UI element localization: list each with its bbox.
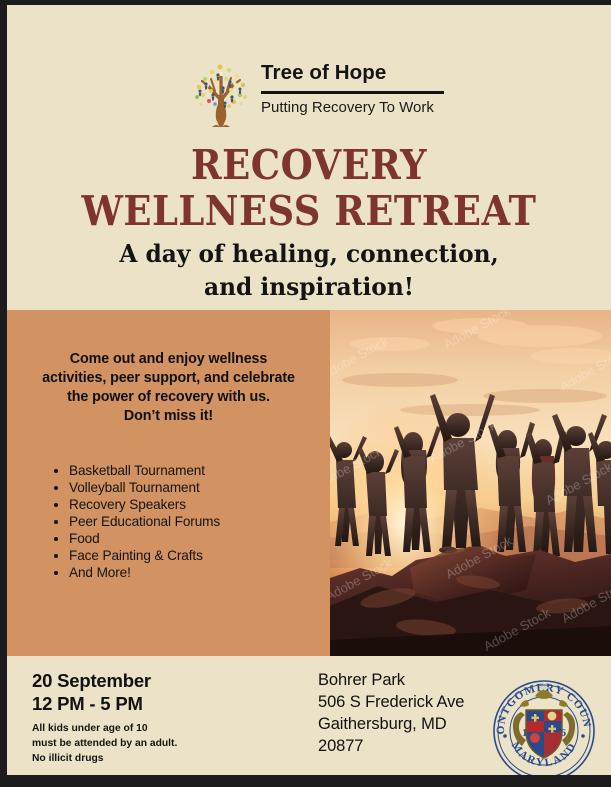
brand-header: Tree of Hope Putting Recovery To Work [185, 55, 455, 133]
tree-of-hope-logo-icon [185, 57, 257, 131]
promo-line-4: Don’t miss it! [19, 407, 318, 426]
list-item: And More! [69, 564, 220, 581]
event-time: 12 PM - 5 PM [32, 693, 151, 716]
frame-bottom-bar [0, 775, 611, 787]
flyer-frame: Tree of Hope Putting Recovery To Work RE… [0, 0, 611, 787]
list-item: Volleyball Tournament [69, 479, 220, 496]
list-item: Peer Educational Forums [69, 513, 220, 530]
flyer-page: Tree of Hope Putting Recovery To Work RE… [7, 5, 611, 775]
event-subtitle-line-1: A day of healing, connection, [22, 237, 596, 270]
disclaimer-line-1: All kids under age of 10 [32, 722, 177, 737]
event-title: RECOVERY WELLNESS RETREAT [7, 145, 611, 232]
venue-zip: 20877 [318, 736, 464, 758]
promo-paragraph: Come out and enjoy wellness activities, … [19, 350, 318, 426]
disclaimer-block: All kids under age of 10 must be attende… [32, 722, 177, 766]
venue-name: Bohrer Park [318, 670, 464, 692]
event-subtitle: A day of healing, connection, and inspir… [7, 237, 611, 303]
event-title-line-1: RECOVERY [37, 145, 581, 186]
venue-street: 506 S Frederick Ave [318, 692, 464, 714]
venue-city-state: Gaithersburg, MD [318, 714, 464, 736]
list-item: Face Painting & Crafts [69, 547, 220, 564]
promo-panel: Come out and enjoy wellness activities, … [7, 310, 330, 656]
date-time-block: 20 September 12 PM - 5 PM [32, 670, 151, 716]
promo-line-1: Come out and enjoy wellness [19, 350, 318, 369]
organization-name: Tree of Hope [261, 61, 386, 85]
activities-list: Basketball Tournament Volleyball Tournam… [51, 462, 220, 581]
list-item: Food [69, 530, 220, 547]
venue-address-block: Bohrer Park 506 S Frederick Ave Gaithers… [318, 670, 464, 758]
organization-tagline: Putting Recovery To Work [261, 99, 434, 116]
montgomery-county-maryland-seal-icon: MONTGOMERY COUNTY MARYLAND 17 76 [491, 678, 597, 775]
event-date: 20 September [32, 670, 151, 693]
event-subtitle-line-2: and inspiration! [22, 270, 596, 303]
promo-line-3: the power of recovery with us. [19, 388, 318, 407]
sunset-group-photo: Adobe Stock Adobe Stock Adobe Stock Adob… [330, 310, 611, 656]
disclaimer-line-3: No illicit drugs [32, 752, 177, 767]
event-title-line-2: WELLNESS RETREAT [37, 191, 581, 232]
promo-line-2: activities, peer support, and celebrate [19, 369, 318, 388]
organization-name-underline [261, 91, 444, 94]
list-item: Basketball Tournament [69, 462, 220, 479]
disclaimer-line-2: must be attended by an adult. [32, 737, 177, 752]
list-item: Recovery Speakers [69, 496, 220, 513]
